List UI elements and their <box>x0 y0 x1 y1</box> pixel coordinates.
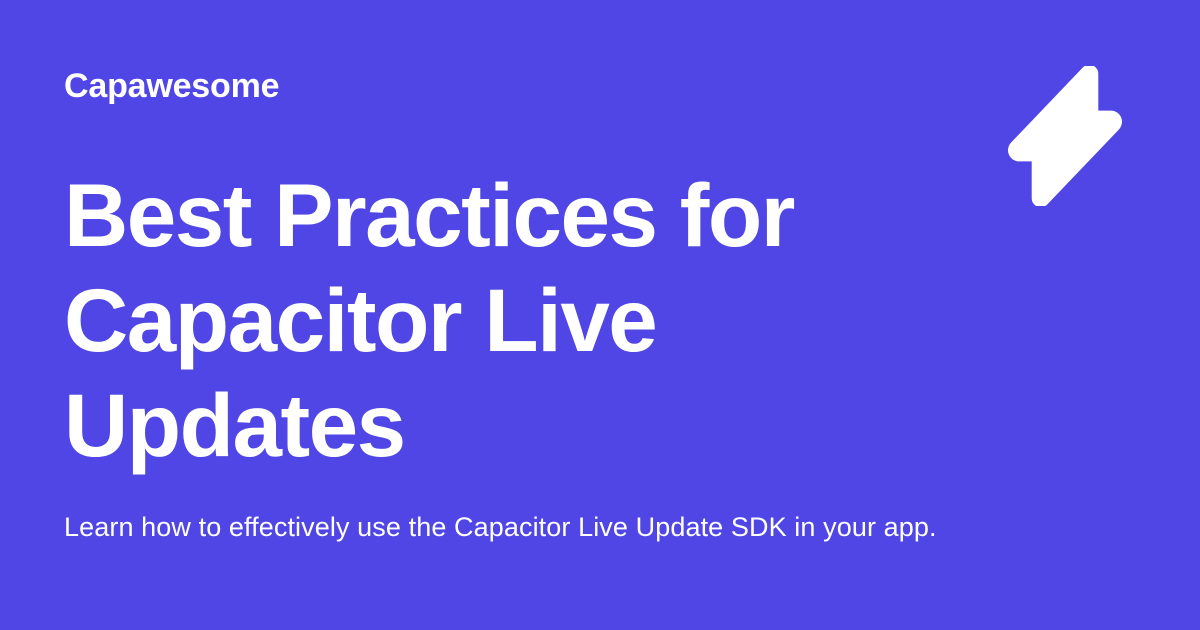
page-subtitle: Learn how to effectively use the Capacit… <box>64 509 1064 545</box>
social-share-card: Capawesome Best Practices for Capacitor … <box>0 0 1200 630</box>
lightning-bolt-icon <box>1008 66 1122 206</box>
page-title: Best Practices for Capacitor Live Update… <box>64 163 964 478</box>
headline-line-3: Updates <box>64 373 964 478</box>
headline-line-2: Capacitor Live <box>64 268 964 373</box>
headline-line-1: Best Practices for <box>64 163 964 268</box>
brand-name: Capawesome <box>64 66 279 106</box>
